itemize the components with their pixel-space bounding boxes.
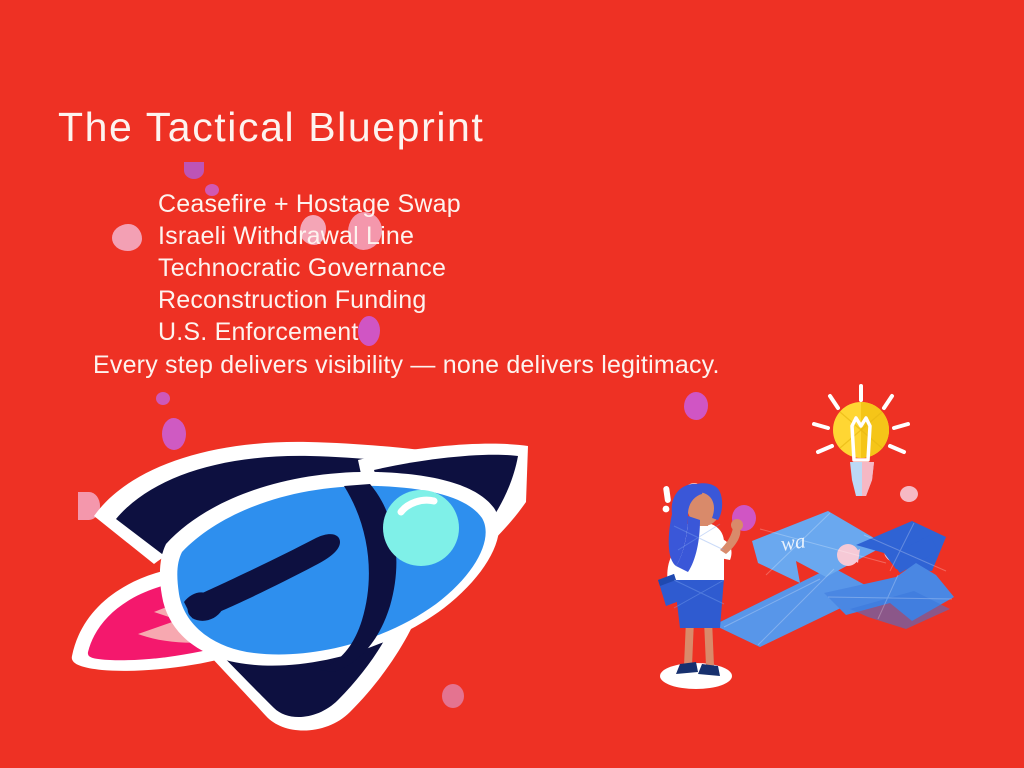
- bullet-item-3: Technocratic Governance: [158, 252, 860, 284]
- bullet-item-1: Ceasefire + Hostage Swap: [158, 188, 860, 220]
- lightbulb-icon: [806, 382, 916, 502]
- decorative-blob: [184, 162, 204, 179]
- closing-statement: Every step delivers visibility — none de…: [93, 349, 860, 381]
- rocket-illustration: [58, 424, 538, 734]
- body-text-block: Ceasefire + Hostage Swap Israeli Withdra…: [60, 188, 860, 381]
- bullet-item-4: Reconstruction Funding: [158, 284, 860, 316]
- decorative-blob: [684, 392, 708, 420]
- bullet-item-5: U.S. Enforcement: [158, 316, 860, 348]
- confused-person-illustration: [640, 480, 760, 695]
- person-icon: [640, 480, 760, 695]
- page-title: The Tactical Blueprint: [58, 104, 484, 151]
- signpost-label: wa: [779, 528, 807, 556]
- rocket-icon: [58, 424, 538, 734]
- decorative-blob: [156, 392, 170, 405]
- presentation-slide: The Tactical Blueprint Ceasefire + Hosta…: [0, 0, 1024, 768]
- bullet-item-2: Israeli Withdrawal Line: [158, 220, 860, 252]
- exclamation-mark: [663, 486, 672, 513]
- lightbulb-illustration: [806, 382, 916, 502]
